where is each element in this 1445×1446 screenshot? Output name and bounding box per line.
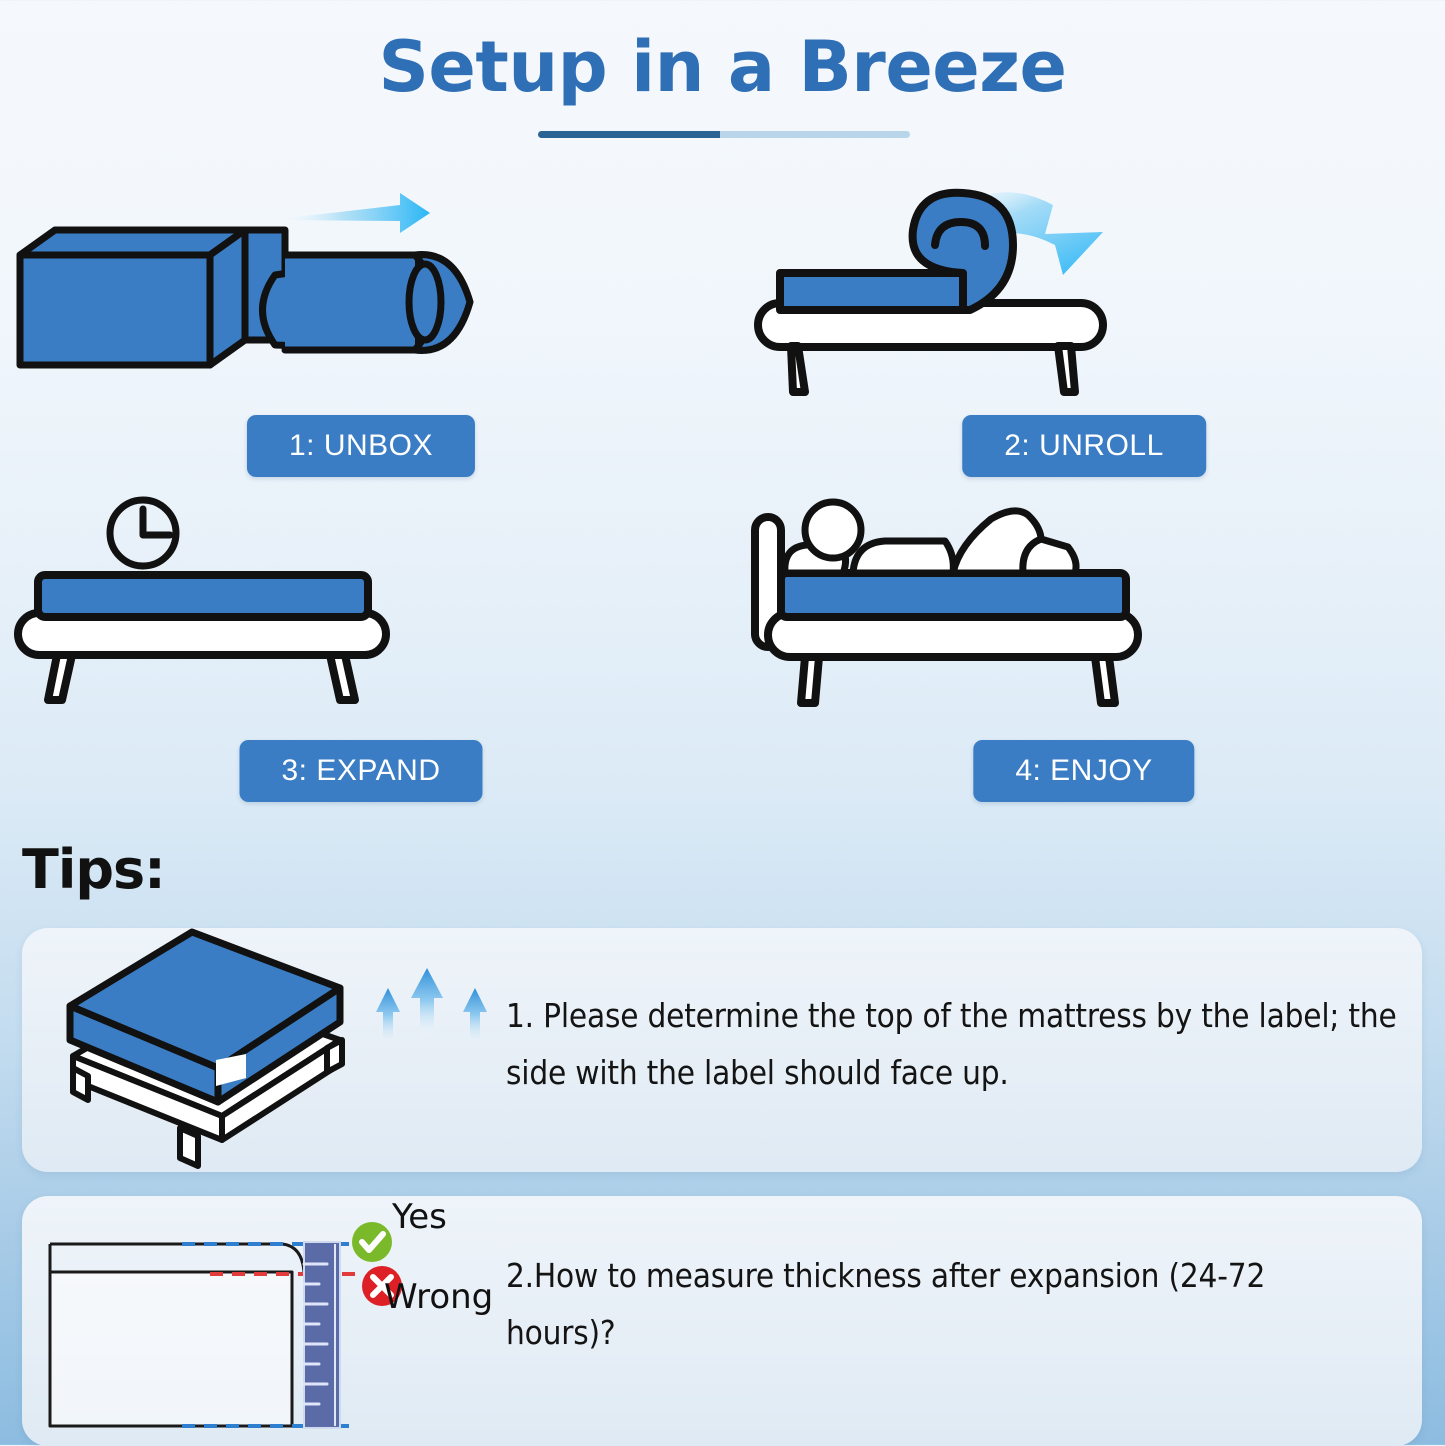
person-sleeping-on-bed-icon [723, 485, 1445, 735]
step-label-enjoy[interactable]: 4: ENJOY [973, 740, 1194, 802]
step-label-unbox[interactable]: 1: UNBOX [247, 415, 475, 477]
step-unbox: 1: UNBOX [0, 160, 722, 490]
title-underline-dark [538, 131, 720, 138]
steps-grid: 1: UNBOX [0, 160, 1445, 820]
step-label-expand[interactable]: 3: EXPAND [240, 740, 483, 802]
infographic-page: Setup in a Breeze [0, 0, 1445, 1445]
tips-heading: Tips: [22, 838, 165, 901]
step-enjoy: 4: ENJOY [723, 485, 1445, 815]
yes-label: Yes [392, 1197, 447, 1237]
title-underline [538, 131, 910, 138]
page-title: Setup in a Breeze [0, 26, 1445, 108]
step-label-unroll[interactable]: 2: UNROLL [962, 415, 1206, 477]
mattress-unrolling-on-bed-icon [723, 160, 1445, 410]
title-underline-light [720, 131, 910, 138]
tip-card-label-orientation: 1. Please determine the top of the mattr… [22, 928, 1422, 1172]
step-unroll: 2: UNROLL [723, 160, 1445, 490]
step-expand: 24-72H 3: EXPAND [0, 485, 722, 815]
mattress-thickness-ruler-diagram [32, 1214, 502, 1444]
tip-card-measure-thickness: Yes Wrong 2.How to measure thickness aft… [22, 1196, 1422, 1446]
isometric-bed-with-label-and-rising-arrows-icon [40, 928, 510, 1172]
flat-mattress-on-bed-icon [0, 485, 722, 735]
tip-text-1: 1. Please determine the top of the mattr… [506, 988, 1406, 1102]
yes-check-icon [352, 1222, 392, 1262]
tip-text-2: 2.How to measure thickness after expansi… [506, 1248, 1326, 1362]
box-with-rolled-mattress-icon [0, 160, 722, 410]
wrong-label: Wrong [384, 1277, 493, 1317]
